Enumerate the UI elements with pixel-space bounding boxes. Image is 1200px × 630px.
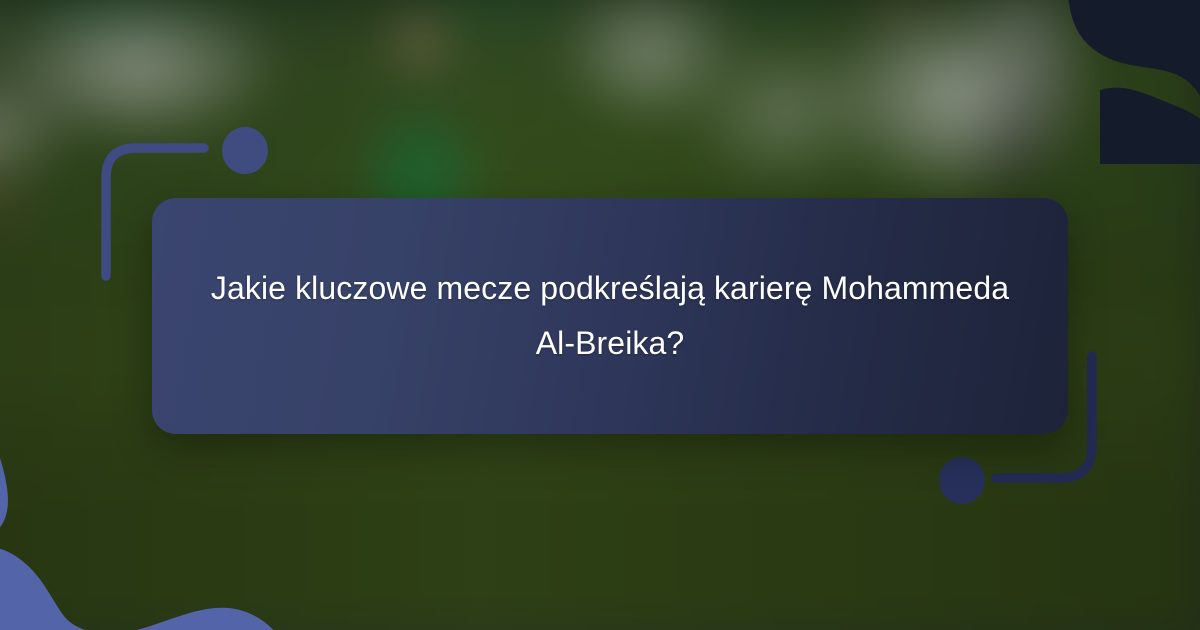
share-card-canvas: Jakie kluczowe mecze podkreślają karierę… — [0, 0, 1200, 630]
question-card: Jakie kluczowe mecze podkreślają karierę… — [152, 198, 1068, 434]
circle-dot-bottom-right — [939, 457, 985, 504]
circle-dot-top-left — [222, 127, 268, 174]
blob-top-right — [950, 0, 1200, 164]
question-text: Jakie kluczowe mecze podkreślają karierę… — [208, 261, 1012, 371]
blob-bottom-left — [0, 402, 280, 630]
